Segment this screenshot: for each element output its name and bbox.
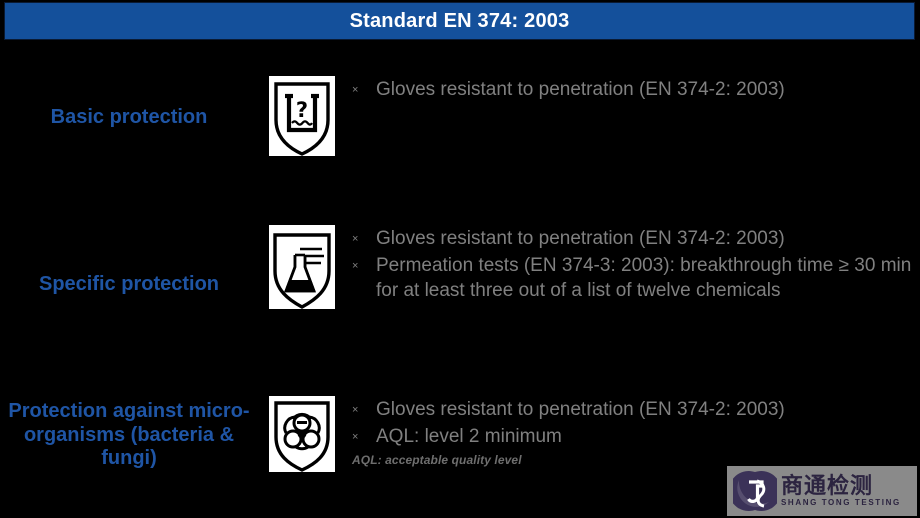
- row-label-basic-protection: Basic protection: [0, 76, 258, 130]
- erlenmeyer-flask-shield-icon: [269, 225, 335, 309]
- beaker-question-shield-icon: ?: [269, 76, 335, 156]
- bullet-text: AQL: level 2 minimum: [376, 425, 920, 450]
- bullet-item: × Permeation tests (EN 374-3: 2003): bre…: [350, 254, 920, 303]
- pictogram-cell: ?: [258, 76, 346, 156]
- content-row: Specific protection × Gloves resistant t: [0, 225, 920, 345]
- bullet-item: × Gloves resistant to penetration (EN 37…: [350, 398, 920, 423]
- footnote-aql-definition: AQL: acceptable quality level: [350, 453, 920, 467]
- bullet-marker-icon: ×: [350, 398, 376, 423]
- slide-title-bar: Standard EN 374: 2003: [4, 2, 915, 40]
- bullet-marker-icon: ×: [350, 78, 376, 103]
- row-label-specific-protection: Specific protection: [0, 225, 258, 297]
- bullets-cell: × Gloves resistant to penetration (EN 37…: [346, 225, 920, 306]
- pictogram-cell: [258, 225, 346, 309]
- bullet-text: Gloves resistant to penetration (EN 374-…: [376, 78, 920, 103]
- content-row: Basic protection ? × Gloves resistant to…: [0, 76, 920, 176]
- logo-wordmark: 商通检测 SHANG TONG TESTING: [777, 474, 901, 508]
- watermark-logo: 商通检测 SHANG TONG TESTING: [727, 466, 917, 516]
- biohazard-shield-icon: [269, 396, 335, 472]
- slide-canvas: Standard EN 374: 2003 Basic protection ?…: [0, 0, 920, 518]
- bullet-text: Gloves resistant to penetration (EN 374-…: [376, 398, 920, 423]
- bullet-marker-icon: ×: [350, 425, 376, 450]
- row-label-micro-organisms: Protection against micro-organisms (bact…: [0, 396, 258, 471]
- logo-chinese-name: 商通检测: [781, 474, 901, 497]
- pictogram-cell: [258, 396, 346, 472]
- logo-english-name: SHANG TONG TESTING: [781, 497, 901, 508]
- bullets-cell: × Gloves resistant to penetration (EN 37…: [346, 76, 920, 105]
- bullet-marker-icon: ×: [350, 227, 376, 252]
- bullet-item: × Gloves resistant to penetration (EN 37…: [350, 78, 920, 103]
- bullet-item: × AQL: level 2 minimum: [350, 425, 920, 450]
- bullets-cell: × Gloves resistant to penetration (EN 37…: [346, 396, 920, 467]
- bullet-item: × Gloves resistant to penetration (EN 37…: [350, 227, 920, 252]
- logo-mark-icon: [733, 470, 777, 512]
- svg-text:?: ?: [296, 98, 308, 122]
- page-title: Standard EN 374: 2003: [350, 10, 570, 33]
- bullet-text: Gloves resistant to penetration (EN 374-…: [376, 227, 920, 252]
- bullet-text: Permeation tests (EN 374-3: 2003): break…: [376, 254, 920, 303]
- bullet-marker-icon: ×: [350, 254, 376, 279]
